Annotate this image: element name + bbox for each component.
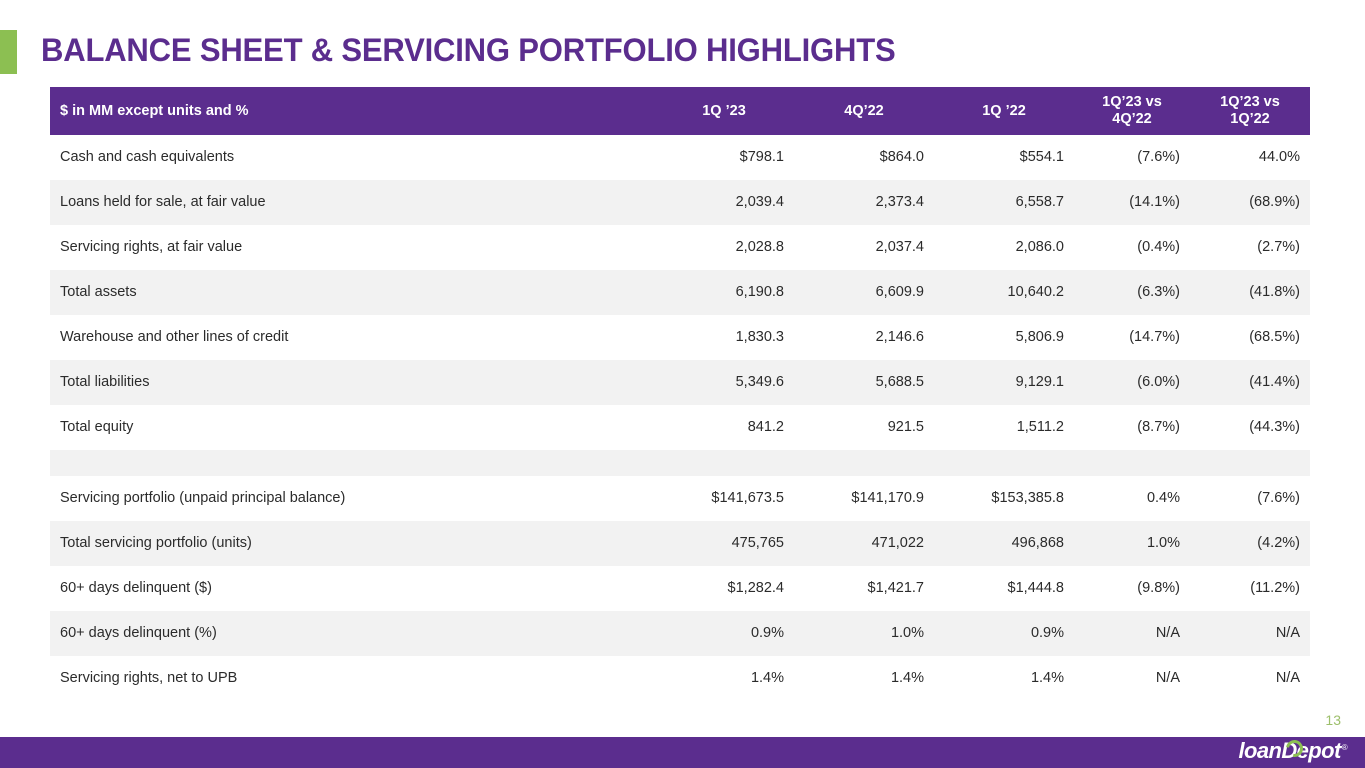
row-value: $141,673.5	[654, 476, 794, 521]
table-row: Servicing rights, net to UPB1.4%1.4%1.4%…	[50, 656, 1310, 701]
header-cell-1q23: 1Q ’23	[654, 87, 794, 135]
row-value: (4.2%)	[1190, 521, 1310, 566]
header-cell-1q22: 1Q ’22	[934, 87, 1074, 135]
header-cell-4q22: 4Q’22	[794, 87, 934, 135]
row-value: (7.6%)	[1190, 476, 1310, 521]
loandepot-logo: loanDepot®	[1239, 738, 1347, 764]
header-line-1: 1Q’23 vs	[1102, 94, 1162, 110]
table-row: Servicing rights, at fair value2,028.82,…	[50, 225, 1310, 270]
row-value: 496,868	[934, 521, 1074, 566]
row-value: 2,028.8	[654, 225, 794, 270]
table-row: Cash and cash equivalents$798.1$864.0$55…	[50, 135, 1310, 180]
row-value: (2.7%)	[1190, 225, 1310, 270]
header-cell-1q23-vs-4q22: 1Q’23 vs 4Q’22	[1074, 87, 1190, 135]
row-label: Warehouse and other lines of credit	[50, 315, 654, 360]
row-value: $864.0	[794, 135, 934, 180]
page-title: BALANCE SHEET & SERVICING PORTFOLIO HIGH…	[41, 32, 896, 69]
row-value: 1.4%	[794, 656, 934, 701]
row-value: N/A	[1190, 611, 1310, 656]
table-spacer-row	[50, 450, 1310, 476]
page-number: 13	[1325, 712, 1341, 728]
row-value: 841.2	[654, 405, 794, 450]
row-value: (41.4%)	[1190, 360, 1310, 405]
row-value: 0.4%	[1074, 476, 1190, 521]
table-row: Servicing portfolio (unpaid principal ba…	[50, 476, 1310, 521]
financial-table-container: $ in MM except units and % 1Q ’23 4Q’22 …	[50, 87, 1310, 701]
table-row: 60+ days delinquent ($)$1,282.4$1,421.7$…	[50, 566, 1310, 611]
table-row: Loans held for sale, at fair value2,039.…	[50, 180, 1310, 225]
row-value: N/A	[1074, 656, 1190, 701]
row-value: 1,830.3	[654, 315, 794, 360]
row-label: 60+ days delinquent (%)	[50, 611, 654, 656]
row-label: Total liabilities	[50, 360, 654, 405]
financial-table: $ in MM except units and % 1Q ’23 4Q’22 …	[50, 87, 1310, 701]
table-row: Total liabilities5,349.65,688.59,129.1(6…	[50, 360, 1310, 405]
row-label: Loans held for sale, at fair value	[50, 180, 654, 225]
row-value: 1.4%	[654, 656, 794, 701]
spacer-cell	[934, 450, 1074, 476]
row-value: N/A	[1190, 656, 1310, 701]
row-value: $153,385.8	[934, 476, 1074, 521]
row-value: (44.3%)	[1190, 405, 1310, 450]
row-value: $554.1	[934, 135, 1074, 180]
row-label: Servicing rights, net to UPB	[50, 656, 654, 701]
row-value: 44.0%	[1190, 135, 1310, 180]
header-cell-label: $ in MM except units and %	[50, 87, 654, 135]
row-value: 475,765	[654, 521, 794, 566]
table-header-row: $ in MM except units and % 1Q ’23 4Q’22 …	[50, 87, 1310, 135]
table-row: Total assets6,190.86,609.910,640.2(6.3%)…	[50, 270, 1310, 315]
row-label: Servicing portfolio (unpaid principal ba…	[50, 476, 654, 521]
row-value: $1,444.8	[934, 566, 1074, 611]
row-value: $141,170.9	[794, 476, 934, 521]
row-value: 5,349.6	[654, 360, 794, 405]
row-value: 2,086.0	[934, 225, 1074, 270]
row-value: 1.4%	[934, 656, 1074, 701]
row-value: (9.8%)	[1074, 566, 1190, 611]
row-value: (6.0%)	[1074, 360, 1190, 405]
row-value: (68.9%)	[1190, 180, 1310, 225]
row-value: 6,558.7	[934, 180, 1074, 225]
spacer-cell	[794, 450, 934, 476]
spacer-cell	[50, 450, 654, 476]
row-value: $798.1	[654, 135, 794, 180]
header-cell-1q23-vs-1q22: 1Q’23 vs 1Q’22	[1190, 87, 1310, 135]
row-value: $1,282.4	[654, 566, 794, 611]
row-value: 6,609.9	[794, 270, 934, 315]
row-label: Total equity	[50, 405, 654, 450]
row-value: 1.0%	[794, 611, 934, 656]
slide-canvas: BALANCE SHEET & SERVICING PORTFOLIO HIGH…	[0, 0, 1365, 768]
spacer-cell	[654, 450, 794, 476]
spacer-cell	[1074, 450, 1190, 476]
row-value: 1.0%	[1074, 521, 1190, 566]
spacer-cell	[1190, 450, 1310, 476]
row-value: 0.9%	[934, 611, 1074, 656]
row-value: 0.9%	[654, 611, 794, 656]
table-row: Total equity841.2921.51,511.2(8.7%)(44.3…	[50, 405, 1310, 450]
row-value: 10,640.2	[934, 270, 1074, 315]
footer-bar	[0, 737, 1365, 768]
row-label: 60+ days delinquent ($)	[50, 566, 654, 611]
row-value: (68.5%)	[1190, 315, 1310, 360]
table-row: Total servicing portfolio (units)475,765…	[50, 521, 1310, 566]
row-value: 5,688.5	[794, 360, 934, 405]
table-header: $ in MM except units and % 1Q ’23 4Q’22 …	[50, 87, 1310, 135]
logo-trademark-icon: ®	[1342, 743, 1347, 752]
table-row: Warehouse and other lines of credit1,830…	[50, 315, 1310, 360]
row-value: 2,039.4	[654, 180, 794, 225]
row-value: (11.2%)	[1190, 566, 1310, 611]
row-label: Servicing rights, at fair value	[50, 225, 654, 270]
row-value: 6,190.8	[654, 270, 794, 315]
title-accent-bar	[0, 30, 17, 74]
row-value: (41.8%)	[1190, 270, 1310, 315]
row-value: 921.5	[794, 405, 934, 450]
row-label: Total servicing portfolio (units)	[50, 521, 654, 566]
row-value: 1,511.2	[934, 405, 1074, 450]
header-line-2: 4Q’22	[1112, 111, 1152, 127]
row-label: Total assets	[50, 270, 654, 315]
row-value: 2,373.4	[794, 180, 934, 225]
row-value: $1,421.7	[794, 566, 934, 611]
table-body: Cash and cash equivalents$798.1$864.0$55…	[50, 135, 1310, 701]
row-value: 2,037.4	[794, 225, 934, 270]
row-value: 471,022	[794, 521, 934, 566]
row-value: (14.7%)	[1074, 315, 1190, 360]
row-value: N/A	[1074, 611, 1190, 656]
row-value: (8.7%)	[1074, 405, 1190, 450]
row-value: 2,146.6	[794, 315, 934, 360]
row-value: (6.3%)	[1074, 270, 1190, 315]
logo-wordmark: loanDepot®	[1239, 738, 1347, 764]
row-value: 5,806.9	[934, 315, 1074, 360]
row-value: 9,129.1	[934, 360, 1074, 405]
logo-text-loan: loan	[1239, 738, 1282, 763]
row-label: Cash and cash equivalents	[50, 135, 654, 180]
row-value: (14.1%)	[1074, 180, 1190, 225]
row-value: (7.6%)	[1074, 135, 1190, 180]
table-row: 60+ days delinquent (%)0.9%1.0%0.9%N/AN/…	[50, 611, 1310, 656]
row-value: (0.4%)	[1074, 225, 1190, 270]
